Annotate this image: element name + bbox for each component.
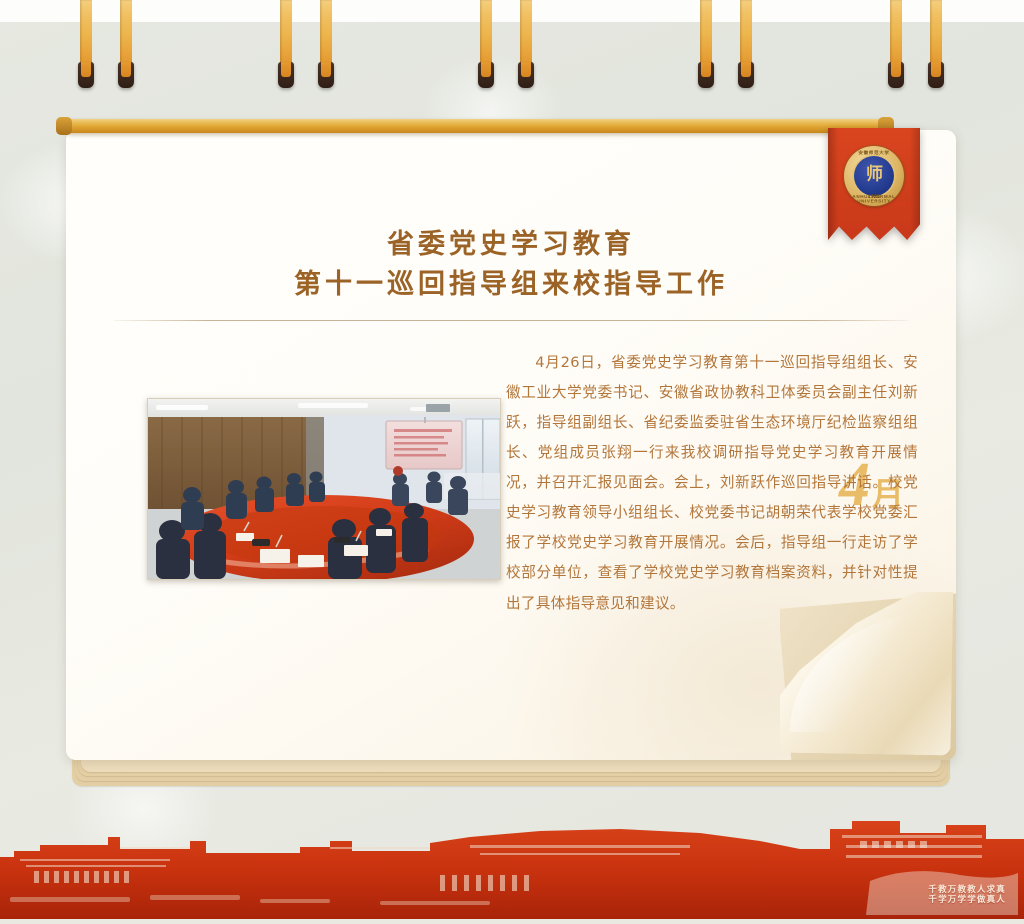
- binder-clip-base: [738, 62, 754, 88]
- binder-clip-base: [318, 62, 334, 88]
- binder-clip-base: [928, 62, 944, 88]
- binder-clip-base: [698, 62, 714, 88]
- motto-line-1: 千教万教教人求真: [928, 884, 1006, 895]
- page-curl: [780, 592, 956, 760]
- binder-clip-base: [118, 62, 134, 88]
- skyline-illustration: [0, 819, 1024, 919]
- title-line-1: 省委党史学习教育: [66, 225, 956, 265]
- photo-illustration: [148, 399, 500, 579]
- article-card: 省委党史学习教育 第十一巡回指导组来校指导工作: [66, 130, 956, 760]
- seal-ring-text-bottom: ANHUI NORMAL UNIVERSITY: [844, 194, 904, 203]
- binder-clip: [928, 0, 944, 88]
- seal-center-glyph: 师: [866, 165, 882, 182]
- campus-skyline: [0, 819, 1024, 919]
- binder-clip-base: [888, 62, 904, 88]
- university-seal-icon: 安徽师范大学 师 1928 ANHUI NORMAL UNIVERSITY: [844, 146, 904, 206]
- binder-clip: [738, 0, 754, 88]
- binder-clip: [888, 0, 904, 88]
- binder-clip: [318, 0, 334, 88]
- article-body: 4月26日，省委党史学习教育第十一巡回指导组组长、安徽工业大学党委书记、安徽省政…: [506, 348, 918, 619]
- binder-clip: [118, 0, 134, 88]
- page-title: 省委党史学习教育 第十一巡回指导组来校指导工作: [66, 225, 956, 305]
- paper-sheet-stack: 省委党史学习教育 第十一巡回指导组来校指导工作: [66, 130, 956, 768]
- binder-clip: [78, 0, 94, 88]
- binder-clip-base: [478, 62, 494, 88]
- binder-clip: [478, 0, 494, 88]
- binder-clip-base: [278, 62, 294, 88]
- binder-clip-base: [518, 62, 534, 88]
- binder-clip: [698, 0, 714, 88]
- campus-motto: 千教万教教人求真 千学万学学做真人: [928, 884, 1006, 905]
- binder-clip: [278, 0, 294, 88]
- university-ribbon-badge: 安徽师范大学 师 1928 ANHUI NORMAL UNIVERSITY: [828, 128, 920, 240]
- binder-clip: [518, 0, 534, 88]
- gold-rod: [64, 119, 886, 133]
- meeting-room-photo: [147, 398, 501, 580]
- binder-clip-base: [78, 62, 94, 88]
- seal-ring-text-top: 安徽师范大学: [844, 150, 904, 155]
- title-divider: [114, 320, 908, 321]
- background-top-strip: [0, 0, 1024, 22]
- title-line-2: 第十一巡回指导组来校指导工作: [66, 265, 956, 305]
- motto-line-2: 千学万学学做真人: [928, 894, 1006, 905]
